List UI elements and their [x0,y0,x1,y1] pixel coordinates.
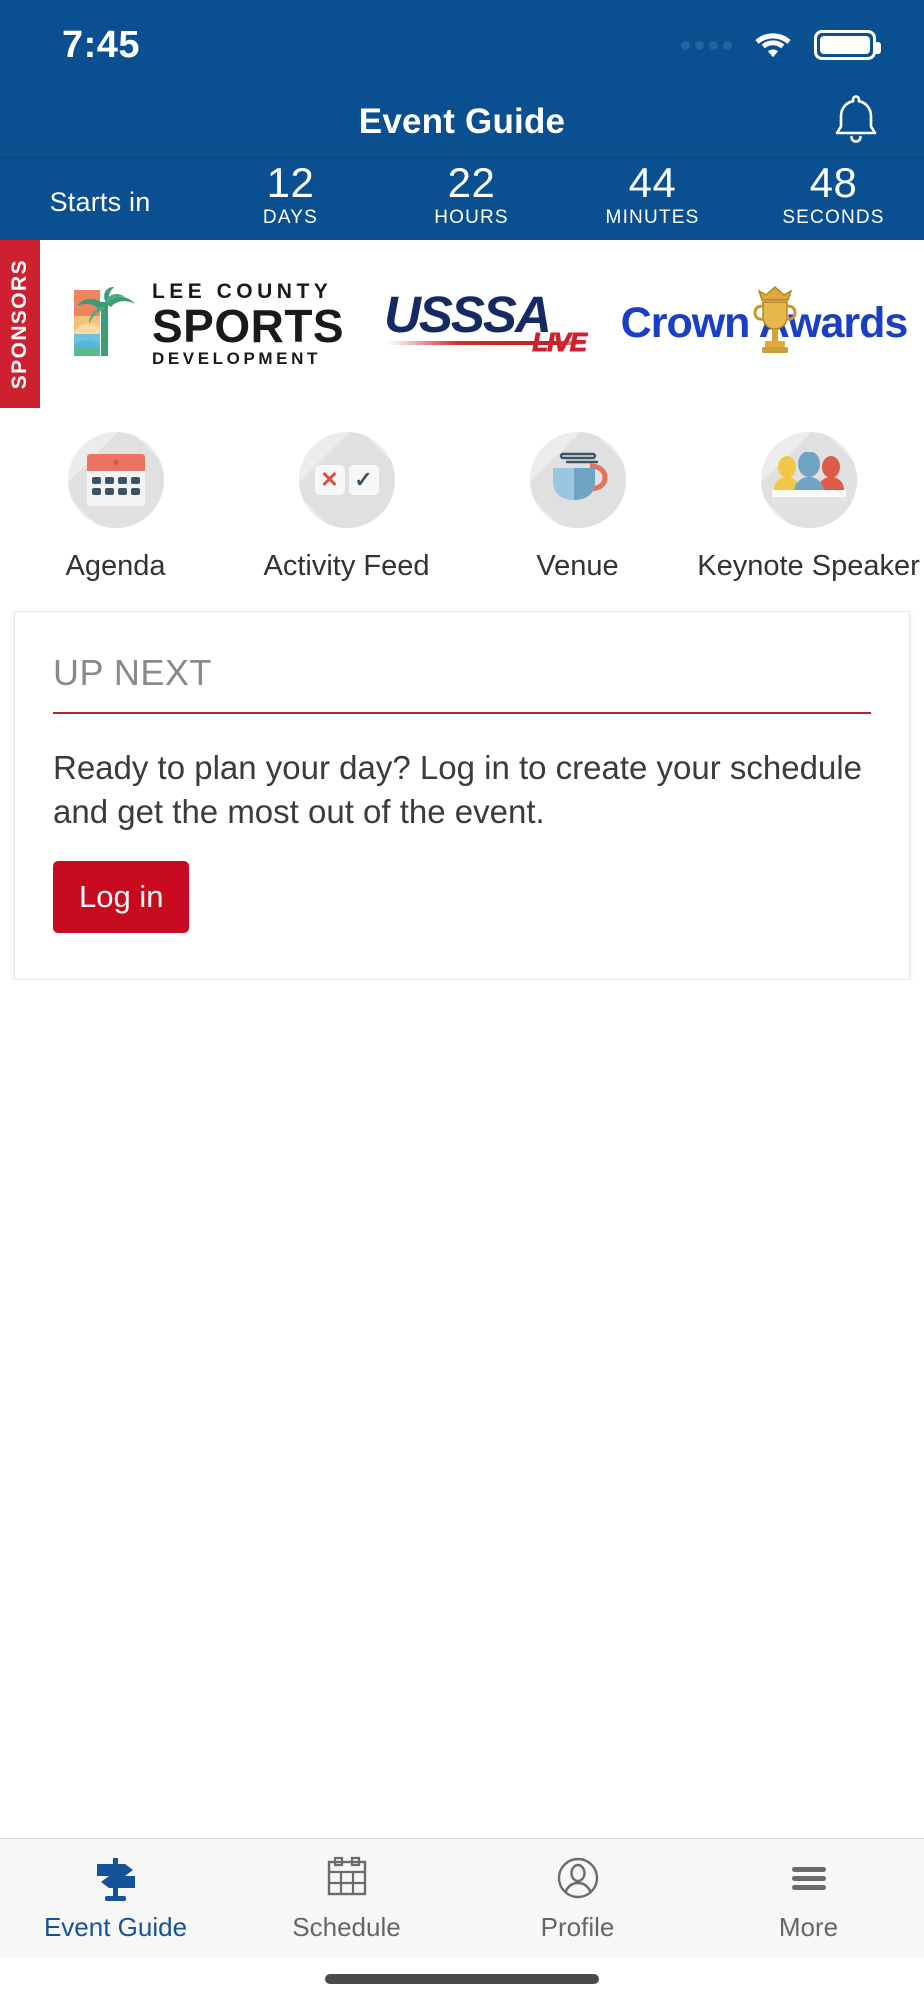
countdown-minutes: 44 MINUTES [562,161,743,229]
up-next-title: UP NEXT [53,652,871,694]
countdown-seconds-label: SECONDS [743,207,924,229]
sponsors-band: SPONSORS [0,240,924,408]
tab-profile[interactable]: Profile [462,1839,693,1958]
bottom-tab-bar: Event Guide Schedule Prof [0,1838,924,1958]
countdown-minutes-label: MINUTES [562,207,743,229]
tab-schedule-label: Schedule [292,1912,400,1943]
crown-trophy-icon [752,284,798,361]
countdown-seconds: 48 SECONDS [743,161,924,229]
calendar-icon [68,432,164,528]
quick-link-agenda[interactable]: Agenda [0,432,231,583]
countdown-hours-label: HOURS [381,207,562,229]
status-bar-indicators [681,30,876,60]
tab-profile-label: Profile [541,1912,615,1943]
countdown-minutes-value: 44 [562,161,743,205]
countdown-seconds-value: 48 [743,161,924,205]
person-circle-icon [555,1854,601,1902]
sponsors-tab-label: SPONSORS [8,259,32,389]
signpost-icon [93,1854,139,1902]
nav-bar: Event Guide [0,90,924,155]
quick-links-row: Agenda ✕ ✓ Activity Feed [0,408,924,589]
page-title: Event Guide [359,102,565,142]
quick-link-activity-feed[interactable]: ✕ ✓ Activity Feed [231,432,462,583]
quick-link-keynote-speaker[interactable]: Keynote Speaker [693,432,924,583]
tab-more[interactable]: More [693,1839,924,1958]
calendar-outline-icon [324,1854,370,1902]
countdown-hours: 22 HOURS [381,161,562,229]
up-next-card: UP NEXT Ready to plan your day? Log in t… [14,611,910,980]
x-check-icon: ✕ ✓ [299,432,395,528]
quick-link-activity-feed-label: Activity Feed [264,550,430,583]
signal-dots-icon [681,41,732,50]
countdown-hours-value: 22 [381,161,562,205]
countdown-days: 12 DAYS [200,161,381,229]
app-screen: 7:45 Event Guide St [0,0,924,2000]
coffee-cup-icon [530,432,626,528]
status-bar-time: 7:45 [62,24,140,67]
log-in-button[interactable]: Log in [53,861,189,933]
battery-icon [814,30,876,60]
tab-more-label: More [779,1912,838,1943]
tab-schedule[interactable]: Schedule [231,1839,462,1958]
content-empty-area [0,980,924,1838]
countdown-prefix: Starts in [0,161,200,218]
up-next-section: UP NEXT Ready to plan your day? Log in t… [0,589,924,980]
wifi-icon [754,31,792,59]
tab-event-guide[interactable]: Event Guide [0,1839,231,1958]
sponsor-lee-line3: DEVELOPMENT [152,350,344,367]
countdown-days-value: 12 [200,161,381,205]
sponsor-lee-line2: SPORTS [152,303,344,349]
quick-link-venue[interactable]: Venue [462,432,693,583]
up-next-message: Ready to plan your day? Log in to create… [53,746,871,833]
sponsor-crown-awards[interactable]: Crown Awards [634,294,894,354]
home-indicator[interactable] [325,1974,599,1984]
home-indicator-area [0,1958,924,2000]
hamburger-menu-icon [786,1854,832,1902]
quick-link-agenda-label: Agenda [66,550,166,583]
status-bar: 7:45 [0,0,924,90]
sponsor-logo-list: LEE COUNTY SPORTS DEVELOPMENT USSSA LIVE… [40,281,924,367]
sponsors-tab[interactable]: SPONSORS [0,240,40,408]
sponsor-lee-line1: LEE COUNTY [152,281,344,302]
people-group-icon [761,432,857,528]
bell-icon [830,135,882,152]
quick-link-venue-label: Venue [536,550,618,583]
sponsor-usssa-tagline: LIVE [532,327,586,358]
tab-event-guide-label: Event Guide [44,1912,187,1943]
quick-link-keynote-speaker-label: Keynote Speaker [697,550,919,583]
palm-tree-beach-logo-icon [70,286,142,362]
up-next-body: Ready to plan your day? Log in to create… [15,714,909,979]
countdown-bar: Starts in 12 DAYS 22 HOURS 44 MINUTES 48… [0,155,924,240]
sponsor-lee-county[interactable]: LEE COUNTY SPORTS DEVELOPMENT [70,281,344,367]
sponsor-usssa-live[interactable]: USSSA LIVE [384,287,594,361]
countdown-days-label: DAYS [200,207,381,229]
sponsor-usssa-wordmark: USSSA [384,289,550,340]
notifications-button[interactable] [830,92,882,153]
up-next-header: UP NEXT [15,612,909,714]
